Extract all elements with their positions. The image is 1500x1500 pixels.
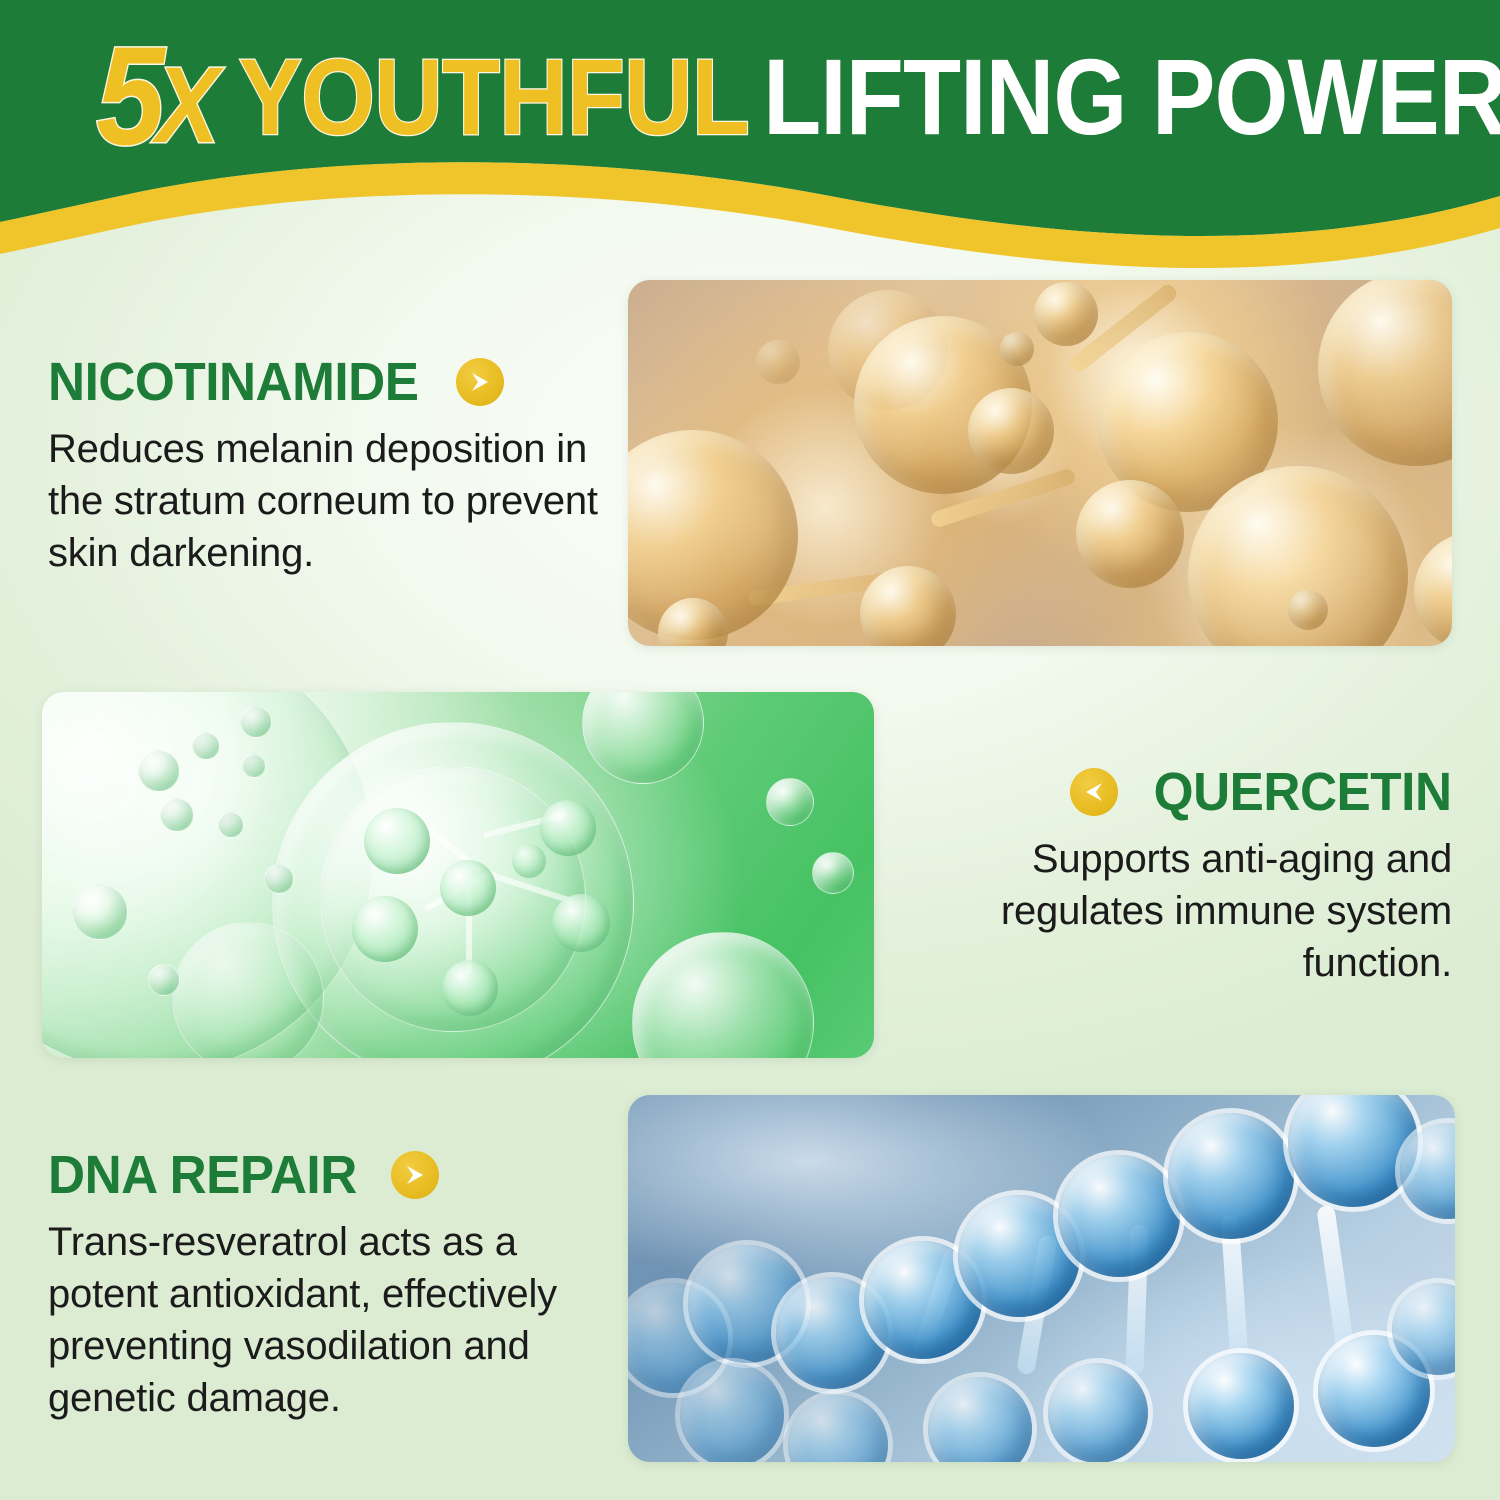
header-wave-shape xyxy=(0,0,1500,280)
product-infographic: 5XYOUTHFULLIFTING POWER NICOTINAMIDE Red… xyxy=(0,0,1500,1500)
section-description: Reduces melanin deposition in the stratu… xyxy=(48,423,608,579)
section-title: NICOTINAMIDE xyxy=(48,355,418,409)
green-molecule-photo xyxy=(42,692,874,1058)
section-quercetin: QUERCETIN Supports anti-aging and regula… xyxy=(982,765,1452,989)
section-title: DNA REPAIR xyxy=(48,1148,357,1202)
section-description: Trans-resveratrol acts as a potent antio… xyxy=(48,1216,593,1424)
section-dna-repair: DNA REPAIR Trans-resveratrol acts as a p… xyxy=(48,1148,593,1424)
section-description: Supports anti-aging and regulates immune… xyxy=(982,833,1452,989)
header-banner: 5XYOUTHFULLIFTING POWER xyxy=(0,0,1500,280)
chevron-left-icon[interactable] xyxy=(1070,768,1118,816)
golden-molecule-photo xyxy=(628,280,1452,646)
section-title-row: NICOTINAMIDE xyxy=(48,355,608,409)
section-title-row: DNA REPAIR xyxy=(48,1148,593,1202)
blue-dna-photo xyxy=(628,1095,1455,1462)
section-title-row: QUERCETIN xyxy=(982,765,1452,819)
chevron-right-icon[interactable] xyxy=(456,358,504,406)
section-nicotinamide: NICOTINAMIDE Reduces melanin deposition … xyxy=(48,355,608,579)
chevron-right-icon[interactable] xyxy=(391,1151,439,1199)
section-title: QUERCETIN xyxy=(1154,765,1452,819)
